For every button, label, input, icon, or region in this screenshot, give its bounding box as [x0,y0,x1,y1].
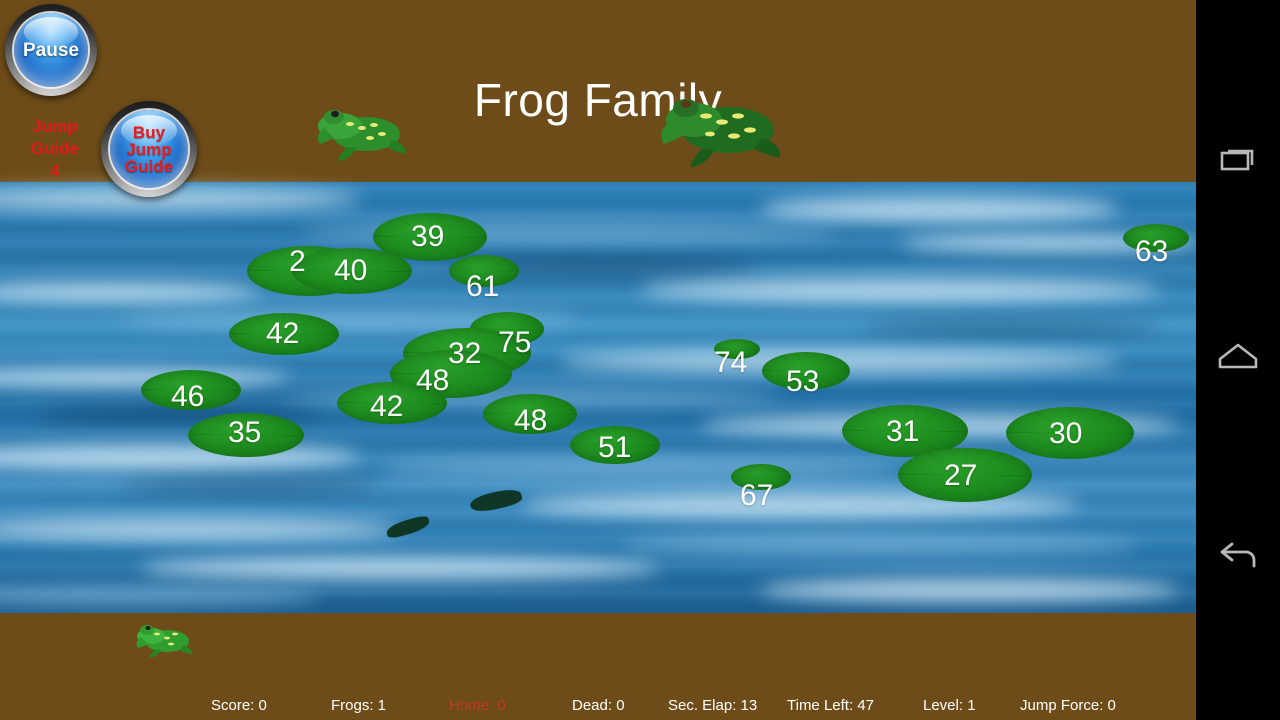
buy-jump-guide-button-face: Buy Jump Guide [110,110,188,188]
game-viewport: 239406142753248464248355174536331302767 … [0,0,1196,720]
lily-pad[interactable] [229,313,339,355]
frog-sprite-player[interactable] [133,620,195,658]
home-icon [1216,337,1260,377]
water-highlight [0,188,360,210]
lily-pad[interactable] [570,426,660,464]
lily-pad[interactable] [292,248,412,294]
buy-jump-guide-button-label: Buy Jump Guide [125,124,173,175]
water-highlight [760,196,1120,222]
pause-button[interactable]: Pause [5,4,97,96]
back-button[interactable] [1196,516,1280,600]
frog-sprite-left [310,100,410,162]
jump-guide-line-2: Guide [16,138,94,160]
lily-pad[interactable] [188,413,304,457]
lily-pad[interactable] [762,352,850,390]
status-level: Level: 1 [923,697,976,714]
status-time-left: Time Left: 47 [787,697,874,714]
lily-pad[interactable] [898,448,1032,502]
lily-pad[interactable] [1006,407,1134,459]
buy-label-line-3: Guide [125,157,173,176]
water-highlight [140,556,660,580]
frog-sprite-right [650,88,784,168]
home-button[interactable] [1196,315,1280,399]
water-highlight [760,578,1180,602]
water-highlight [0,518,400,540]
back-icon [1216,538,1260,578]
water-highlight [0,586,320,606]
water-highlight [0,444,360,470]
status-jump-force: Jump Force: 0 [1020,697,1116,714]
water-shadow [120,480,380,492]
screen: 239406142753248464248355174536331302767 … [0,0,1280,720]
lily-pad[interactable] [1123,224,1189,252]
water-shadow [860,322,1160,334]
pause-button-face: Pause [14,13,88,87]
pause-button-label: Pause [23,41,79,60]
status-frogs: Frogs: 1 [331,697,386,714]
lily-pad[interactable] [337,382,447,424]
jump-guide-line-1: Jump [16,116,94,138]
status-home: Home: 0 [449,697,506,714]
recents-button[interactable] [1196,118,1280,202]
status-bar: Score: 0Frogs: 1Home: 0Dead: 0Sec. Elap:… [0,690,1196,720]
lily-pad[interactable] [483,394,577,434]
recents-icon [1218,140,1258,180]
status-sec-elap: Sec. Elap: 13 [668,697,757,714]
water-highlight [380,458,900,478]
lily-pad[interactable] [714,339,760,359]
water-highlight [620,534,1140,556]
fish-silhouette [469,486,524,515]
status-dead: Dead: 0 [572,697,625,714]
water-highlight [0,282,260,302]
android-nav-bar [1196,0,1280,720]
lily-pad[interactable] [731,464,791,490]
jump-guide-count: 4 [16,160,94,182]
status-score: Score: 0 [211,697,267,714]
lily-pad[interactable] [449,255,519,287]
fish-silhouette [385,514,431,540]
buy-jump-guide-button[interactable]: Buy Jump Guide [101,101,197,197]
jump-guide-counter: Jump Guide 4 [16,116,94,182]
water-highlight [640,278,1160,302]
lily-pad[interactable] [141,370,241,410]
